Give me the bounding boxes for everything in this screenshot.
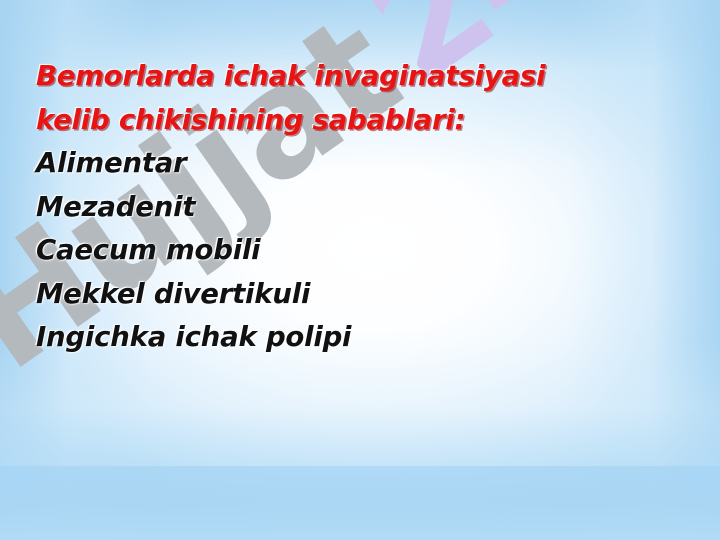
list-item-alimentar: Alimentar	[36, 142, 686, 186]
list-item-mezadenit: Mezadenit	[36, 186, 686, 230]
title-line-1: Bemorlarda ichak invaginatsiyasi	[36, 55, 686, 99]
slide-text-block: Bemorlarda ichak invaginatsiyasi kelib c…	[36, 55, 686, 360]
list-item-mekkel-divertikuli: Mekkel divertikuli	[36, 273, 686, 317]
list-item-caecum-mobili: Caecum mobili	[36, 229, 686, 273]
list-item-ingichka-ichak-polipi: Ingichka ichak polipi	[36, 316, 686, 360]
slide-canvas: Hujjat24 Bemorlarda ichak invaginatsiyas…	[0, 0, 720, 540]
title-line-2: kelib chikishining sabablari:	[36, 99, 686, 143]
background-bottom-band	[0, 466, 720, 540]
